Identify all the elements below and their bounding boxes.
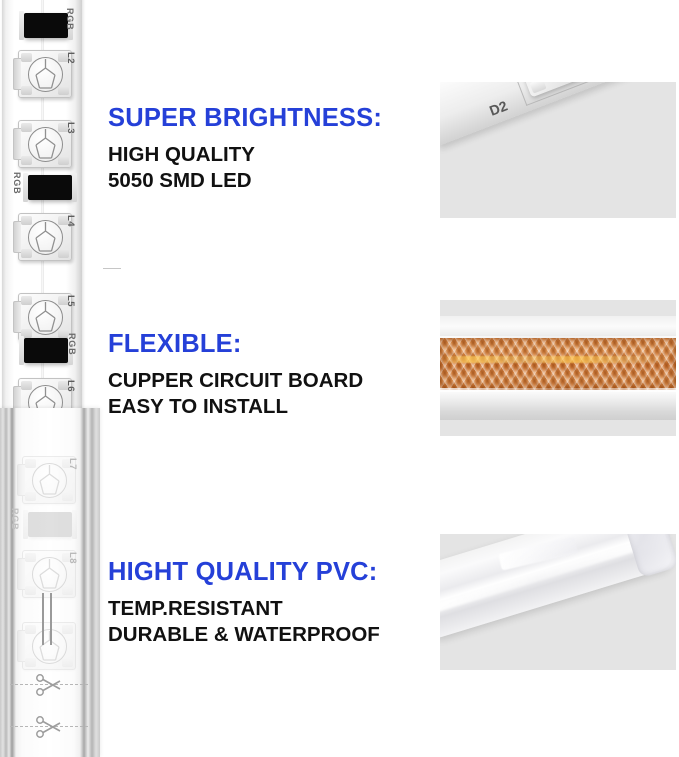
rgb-silkscreen-label: RGB [65, 8, 75, 30]
feature-block-high-quality-pvc: HIGHT QUALITY PVC: TEMP.RESISTANT DURABL… [108, 558, 380, 648]
led-lens-icon [28, 127, 63, 162]
feature-body-line: HIGH QUALITY [108, 142, 382, 168]
led-lens-icon [28, 300, 63, 335]
silkscreen-d2-label: D2 [487, 97, 509, 118]
led-lens-icon [28, 57, 63, 92]
led-lens-icon [32, 463, 67, 498]
led-chip [18, 120, 72, 168]
led-chip [18, 293, 72, 341]
rgb-silkscreen-label: RGB [67, 333, 77, 355]
chip-resistor [24, 338, 68, 363]
scissors-icon [34, 672, 64, 703]
led-chip [18, 50, 72, 98]
feature-body: HIGH QUALITY 5050 SMD LED [108, 142, 382, 194]
braid-edge [440, 388, 676, 392]
feature-body: CUPPER CIRCUIT BOARD EASY TO INSTALL [108, 368, 363, 420]
led-chip [18, 213, 72, 261]
feature-body-line: CUPPER CIRCUIT BOARD [108, 368, 363, 394]
rgb-silkscreen-label: RGB [10, 508, 20, 530]
copper-braid [440, 338, 676, 390]
pvc-cut-end-face [618, 534, 676, 578]
chip-resistor [28, 175, 72, 200]
led-designator-label: L6 [65, 380, 76, 392]
led-lens-icon [28, 220, 63, 255]
rgb-silkscreen-label: RGB [12, 172, 22, 194]
feature-body-line: 5050 SMD LED [108, 168, 382, 194]
feature-heading: FLEXIBLE: [108, 330, 363, 359]
pcb-board: R11 D2 + [440, 82, 676, 146]
feature-body-line: DURABLE & WATERPROOF [108, 622, 380, 648]
feature-body-line: TEMP.RESISTANT [108, 596, 380, 622]
feature-heading: HIGHT QUALITY PVC: [108, 558, 380, 587]
led-designator-label: L7 [67, 458, 78, 470]
cut-mark [10, 672, 88, 698]
section-divider [103, 268, 121, 269]
chip-resistor [24, 13, 68, 38]
feature-block-super-brightness: SUPER BRIGHTNESS: HIGH QUALITY 5050 SMD … [108, 104, 382, 194]
scissors-icon [34, 714, 64, 745]
chip-resistor [28, 512, 72, 537]
lead-wires [40, 593, 56, 645]
led-designator-label: L8 [67, 552, 78, 564]
led-designator-label: L3 [65, 122, 76, 134]
copper-circuit-board-photo [440, 300, 676, 436]
smd-led-closeup-photo: R11 D2 + [440, 82, 676, 218]
solder-pad [530, 82, 547, 94]
led-strip-illustration: RGB L2 L3 RGB [0, 0, 110, 757]
pvc-extrusion [440, 534, 675, 639]
led-designator-label: L4 [65, 215, 76, 227]
feature-heading: SUPER BRIGHTNESS: [108, 104, 382, 133]
braid-highlight [440, 356, 676, 363]
clear-pvc-sleeve-photo [440, 534, 676, 670]
feature-block-flexible: FLEXIBLE: CUPPER CIRCUIT BOARD EASY TO I… [108, 330, 363, 420]
feature-body: TEMP.RESISTANT DURABLE & WATERPROOF [108, 596, 380, 648]
led-designator-label: L5 [65, 295, 76, 307]
led-designator-label: L2 [65, 52, 76, 64]
led-lens-icon [32, 557, 67, 592]
cut-mark [10, 714, 88, 740]
feature-body-line: EASY TO INSTALL [108, 394, 363, 420]
